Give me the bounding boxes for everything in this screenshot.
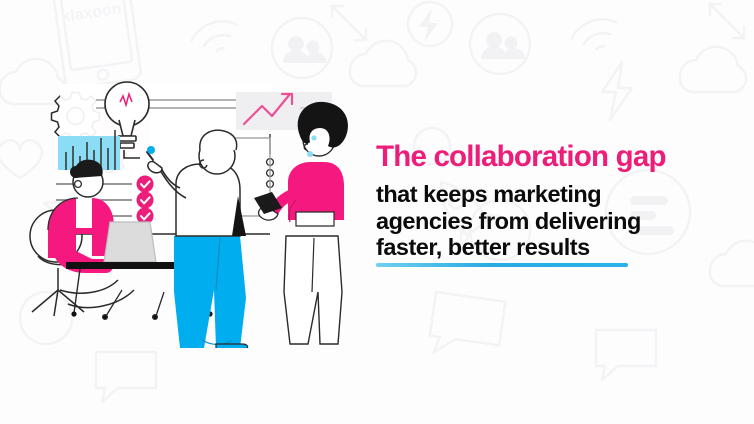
svg-text:klaxoon: klaxoon	[60, 1, 122, 26]
subheading-line-3-text: faster, better results	[376, 234, 590, 260]
hero-banner: klaxoon	[0, 0, 754, 424]
tablet-icon	[52, 0, 142, 89]
subheading-line-1: that keeps marketing	[376, 181, 736, 208]
expand-arrows-icon	[332, 6, 366, 40]
floor-lines	[103, 290, 164, 319]
team-collaboration-illustration	[14, 78, 364, 348]
cloud-icon	[680, 47, 746, 92]
subheading-line-3: faster, better results	[376, 234, 590, 261]
underline-accent	[376, 263, 628, 267]
lightning-icon	[408, 2, 452, 46]
people-icon	[481, 32, 525, 59]
lightning-icon	[419, 8, 438, 42]
lightning-icon	[602, 62, 632, 120]
klaxoon-wordmark: klaxoon	[60, 1, 122, 26]
people-icon	[272, 18, 332, 78]
check-circle-icon	[137, 176, 154, 193]
chat-icon	[96, 352, 156, 402]
people-icon	[470, 14, 530, 74]
check-circle-icon	[137, 192, 154, 209]
chat-icon	[428, 292, 506, 361]
page-title: The collaboration gap	[376, 140, 736, 174]
hero-copy: The collaboration gap that keeps marketi…	[376, 140, 736, 261]
laptop-icon	[104, 222, 156, 262]
chat-icon	[596, 330, 656, 380]
subheading-line-3-wrapper: faster, better results	[376, 234, 736, 261]
wifi-icon	[188, 15, 243, 58]
expand-arrows-icon	[710, 4, 744, 38]
people-icon	[283, 36, 327, 63]
subheading-line-2: agencies from delivering	[376, 208, 736, 235]
wifi-icon	[568, 13, 623, 56]
